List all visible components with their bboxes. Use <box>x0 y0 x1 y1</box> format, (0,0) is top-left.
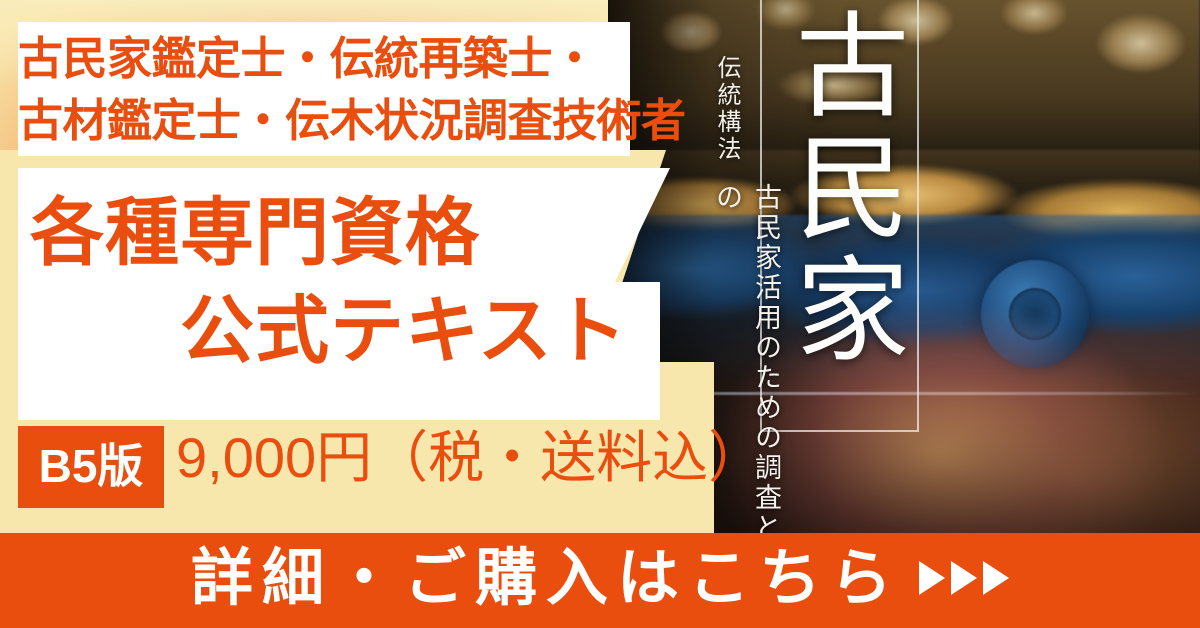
cta-arrows <box>919 561 1009 595</box>
triangle-right-icon <box>951 561 977 595</box>
price-text: 9,000円（税・送料込） <box>176 430 764 486</box>
main-title: 各種専門資格 公式テキスト <box>22 184 702 379</box>
triangle-right-icon <box>983 561 1009 595</box>
cover-title: 古民家 <box>766 6 908 372</box>
headline: 古民家鑑定士・伝統再築士・ 古材鑑定士・伝木状況調査技術者 <box>18 28 718 151</box>
format-badge: B5版 <box>18 426 164 508</box>
cta-bar[interactable]: 詳細・ご購入はこちら <box>0 533 1200 628</box>
format-badge-label: B5版 <box>39 443 144 489</box>
headline-line-2: 古材鑑定士・伝木状況調査技術者 <box>18 90 718 152</box>
triangle-right-icon <box>919 561 945 595</box>
main-title-line-2: 公式テキスト <box>22 282 702 380</box>
headline-line-1: 古民家鑑定士・伝統再築士・ <box>18 33 597 84</box>
promo-banner: 古民家 伝統構法 古民家活用のための調査と再生の 古民家鑑定士・伝統再築士・ 古… <box>0 0 1200 628</box>
main-title-line-1: 各種専門資格 <box>22 184 702 282</box>
cta-label: 詳細・ご購入はこちら <box>191 548 901 610</box>
